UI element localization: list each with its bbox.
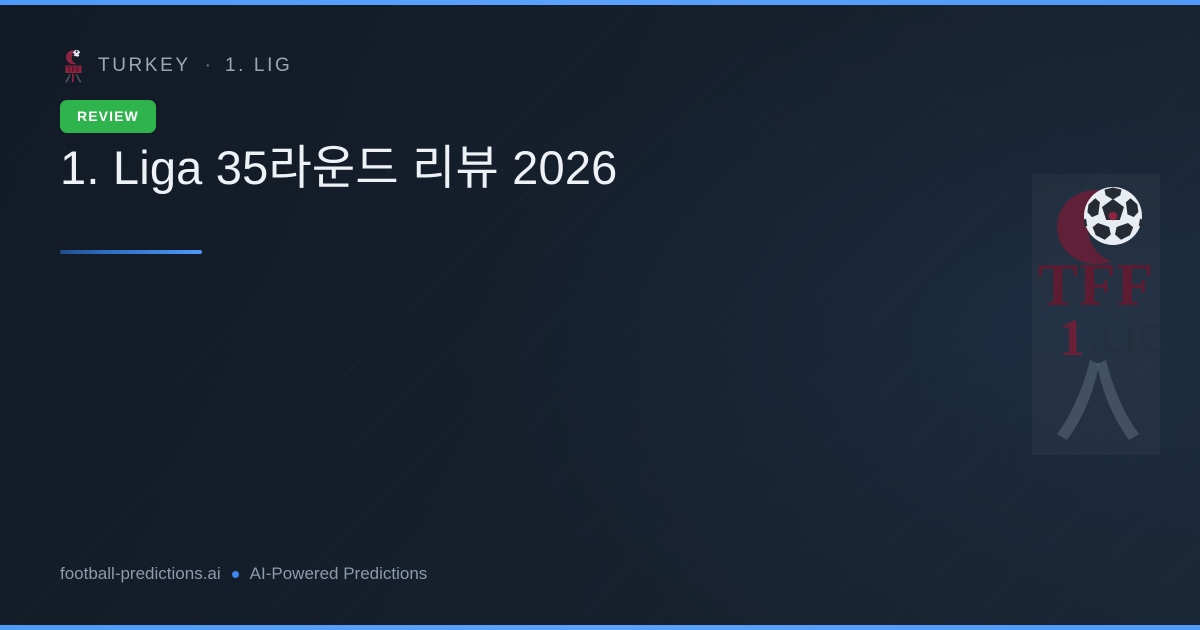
breadcrumb: TFF TURKEY · 1. LIG: [60, 48, 292, 84]
crest-left-leg: [1057, 360, 1099, 440]
crest-wordmark: TFF: [1038, 252, 1154, 318]
tff-1-lig-crest: TFF 1 .LİG: [1032, 174, 1160, 455]
footer-site-name: football-predictions.ai: [60, 564, 221, 584]
footer: football-predictions.ai AI-Powered Predi…: [60, 564, 427, 584]
footer-tagline: AI-Powered Predictions: [250, 564, 428, 584]
breadcrumb-separator: ·: [203, 55, 213, 77]
breadcrumb-country: TURKEY: [98, 55, 191, 77]
crest-tier-number: 1: [1059, 310, 1085, 367]
page-title: 1. Liga 35라운드 리뷰 2026: [60, 140, 760, 196]
football-center-dot: [1109, 212, 1118, 221]
footer-bullet-icon: [232, 571, 239, 578]
crest-tier-label: .LİG: [1088, 317, 1160, 361]
league-crest-panel: TFF 1 .LİG: [1032, 174, 1160, 455]
social-share-card: TFF TURKEY · 1. LIG REVIEW 1. Liga 35라운드…: [0, 0, 1200, 630]
content-column: TFF TURKEY · 1. LIG REVIEW 1. Liga 35라운드…: [60, 0, 760, 630]
crest-right-leg: [1097, 360, 1139, 440]
status-badge: REVIEW: [60, 100, 156, 133]
tff-1-lig-logo-icon: TFF: [60, 48, 86, 84]
breadcrumb-league: 1. LIG: [225, 55, 292, 77]
title-accent-divider: [60, 250, 202, 254]
svg-text:TFF: TFF: [67, 66, 81, 74]
